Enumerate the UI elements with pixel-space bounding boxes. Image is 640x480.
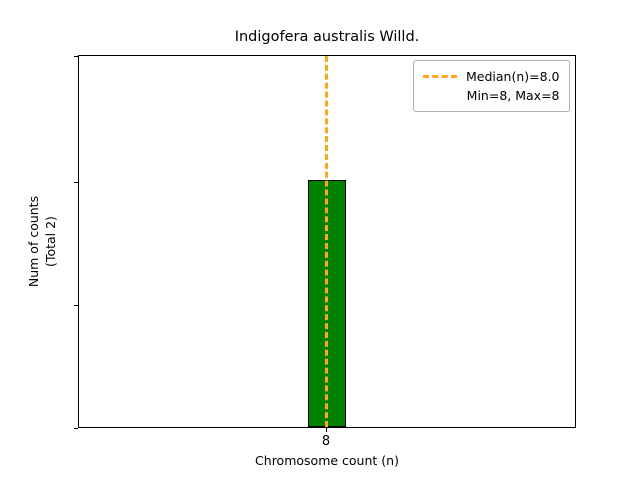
chart-legend: Median(n)=8.0 Min=8, Max=8 [413,60,570,112]
legend-entry-median: Median(n)=8.0 [423,67,560,86]
legend-label-median: Median(n)=8.0 [466,69,560,84]
x-axis-label: Chromosome count (n) [78,453,576,468]
legend-entry-minmax: Min=8, Max=8 [423,86,560,105]
median-line [325,56,328,427]
dashed-line-icon [423,75,457,78]
y-axis-label-line1: Num of counts [26,196,41,287]
x-tick-mark-0 [326,428,327,432]
legend-label-minmax: Min=8, Max=8 [466,88,560,103]
chart-title: Indigofera australis Willd. [78,30,576,46]
y-tick-mark-0 [74,428,78,429]
y-axis-label: Num of counts (Total 2) [26,55,60,428]
x-tick-label-0: 8 [322,434,330,449]
chart-figure: Indigofera australis Willd. 0 1 2 3 Num … [0,0,640,480]
y-axis-label-line2: (Total 2) [43,216,58,267]
blank-swatch-icon [423,94,457,97]
